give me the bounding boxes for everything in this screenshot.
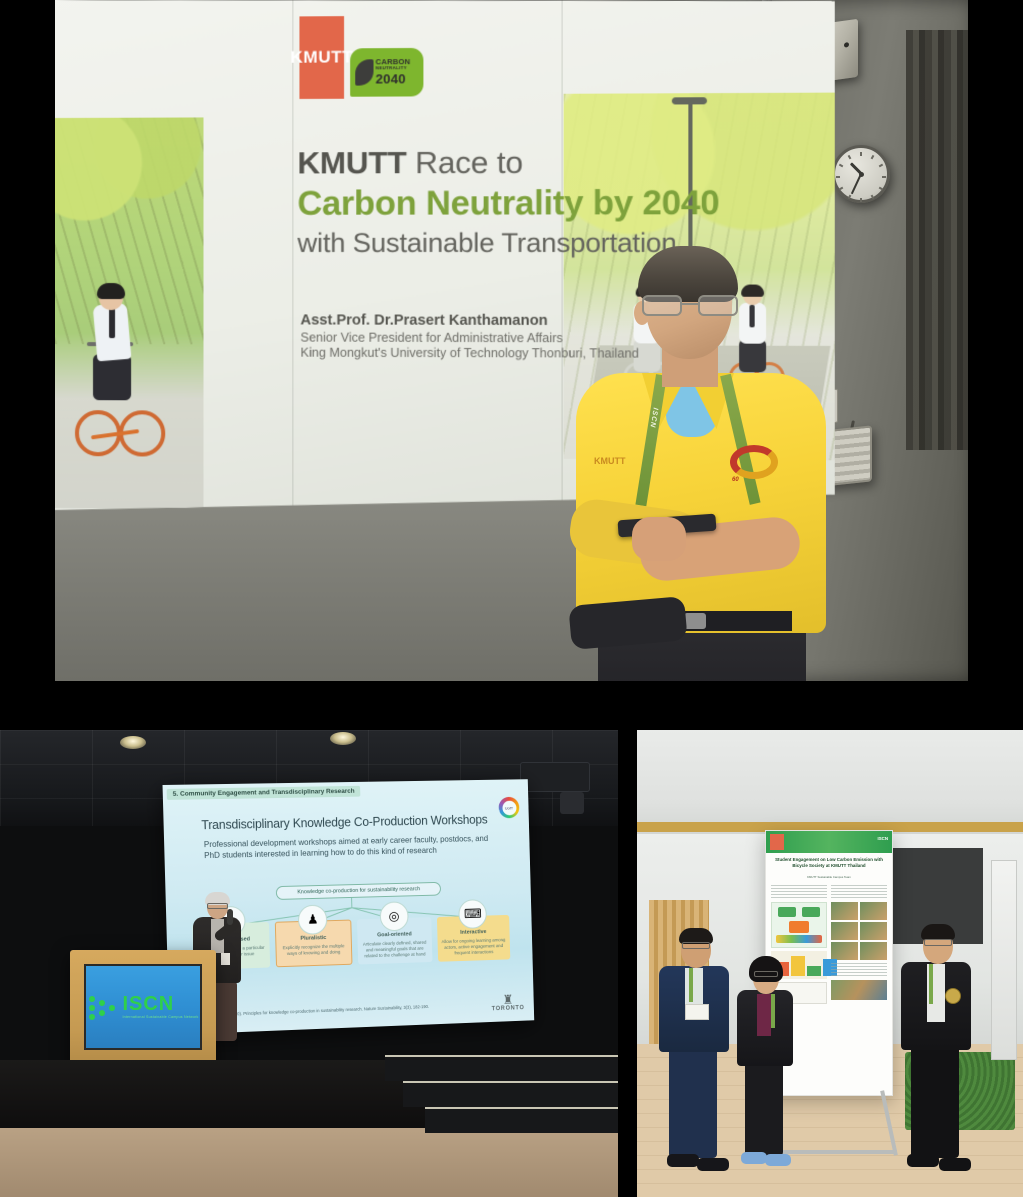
sleeve-logo: KMUTT: [594, 457, 624, 485]
podium-screen: ISCN International Sustainable Campus Ne…: [84, 964, 202, 1050]
glasses-icon: [682, 942, 710, 949]
carbon-neutrality-badge: CARBON NEUTRALITY 2040: [350, 48, 423, 97]
utsc-logo-icon: UofT: [498, 797, 519, 819]
kmutt-logo: KMUTT: [299, 16, 344, 99]
university-logo: ♜ TORONTO: [491, 993, 524, 1013]
card-description: Explicitly recognize the multiple ways o…: [280, 943, 348, 956]
university-name: TORONTO: [492, 1005, 525, 1012]
delegate-black-suit: [897, 926, 977, 1188]
poster-photo-grid: [831, 902, 887, 960]
presenter-figure: ISCN 60 KMUTT: [570, 255, 830, 681]
iscn-acronym: ISCN: [122, 993, 174, 1015]
slide-body-text: Professional development workshops aimed…: [204, 834, 493, 862]
leaf-icon: [355, 59, 373, 85]
ceiling-speaker-icon: [560, 792, 584, 814]
anniversary-logo: 60: [730, 445, 782, 487]
keynote-presentation-photo: KMUTT CARBON NEUTRALITY 2040 KMUTT Race …: [55, 0, 968, 681]
lobby-ceiling: [637, 730, 1023, 834]
stage-steps: [385, 1055, 618, 1150]
anniversary-logo-number: 60: [732, 477, 739, 483]
wall-clock: [832, 145, 890, 203]
panel-gutter: [618, 730, 637, 1197]
iscn-logo-text: ISCN International Sustainable Campus Ne…: [122, 994, 198, 1020]
card-name: Goal-oriented: [361, 931, 427, 939]
banner-stand: [991, 860, 1017, 1060]
card-description: Articulate clearly defined, shared and m…: [361, 940, 428, 959]
letterbox-right: [968, 0, 1023, 730]
glasses-icon: [924, 939, 952, 946]
poster-header-mark: ISCN: [878, 836, 889, 841]
microphone-icon: [227, 909, 233, 925]
letterbox-left: [0, 0, 55, 730]
glasses-icon: [754, 971, 778, 977]
card-description: Allow for ongoing learning among actors,…: [441, 937, 507, 956]
card-name: Pluralistic: [280, 934, 347, 942]
slide-title-line2: Carbon Neutrality by 2040: [297, 184, 779, 224]
name-badge: [685, 1004, 709, 1020]
principle-card: ♟ Pluralistic Explicitly recognize the m…: [274, 920, 352, 968]
principle-card: ⌨ Interactive Allow for ongoing learning…: [436, 915, 510, 962]
card-name: Interactive: [441, 929, 506, 937]
slide-title-kmutt: KMUTT: [297, 145, 406, 181]
photo-collage: KMUTT CARBON NEUTRALITY 2040 KMUTT Race …: [0, 0, 1023, 1197]
slide-title: Transdisciplinary Knowledge Co-Productio…: [201, 813, 487, 832]
kmutt-logo-label: KMUTT: [290, 50, 353, 66]
principle-card: ◎ Goal-oriented Articulate clearly defin…: [357, 917, 432, 965]
chat-bubble-icon: ⌨: [458, 899, 487, 929]
presenter-hand: [632, 517, 686, 561]
slide-title-line1-rest: Race to: [407, 145, 523, 181]
poster-session-photo: ISCN Student Engagement on Low Carbon Em…: [637, 730, 1023, 1197]
window-curtain: [906, 30, 968, 450]
lecture-hall-photo: 5. Community Engagement and Transdiscipl…: [0, 730, 618, 1197]
delegate-black-blazer: [733, 956, 799, 1186]
kmutt-logo-icon: [770, 834, 784, 850]
glasses-icon: [642, 295, 738, 317]
poster-header: ISCN: [766, 831, 892, 853]
glasses-icon: [207, 903, 228, 909]
lanyard-text: ISCN: [648, 407, 658, 429]
presenter-hair: [638, 246, 738, 302]
clock-center: [859, 172, 864, 177]
target-icon: ◎: [379, 901, 408, 931]
letterbox-bottom: [0, 681, 1023, 730]
ceiling-vent: [520, 762, 590, 792]
badge-year: 2040: [376, 72, 411, 86]
crest-badge-icon: [945, 988, 961, 1004]
iscn-network-icon: [87, 992, 117, 1022]
iscn-full-name: International Sustainable Campus Network: [122, 1016, 198, 1020]
slide-title: KMUTT Race to Carbon Neutrality by 2040 …: [297, 144, 779, 259]
slide-section-banner: 5. Community Engagement and Transdiscipl…: [167, 786, 361, 800]
poster-photo: [831, 980, 887, 1000]
clock-minute-hand: [851, 174, 862, 195]
poster-title: Student Engagement on Low Carbon Emissio…: [772, 857, 886, 868]
people-group-icon: ♟: [298, 905, 328, 935]
delegate-navy-suit: [655, 928, 735, 1186]
name-badge: [221, 953, 230, 965]
poster-authors: KMUTT Sustainable Campus Team: [772, 875, 886, 879]
poster-diagram: [771, 902, 827, 948]
